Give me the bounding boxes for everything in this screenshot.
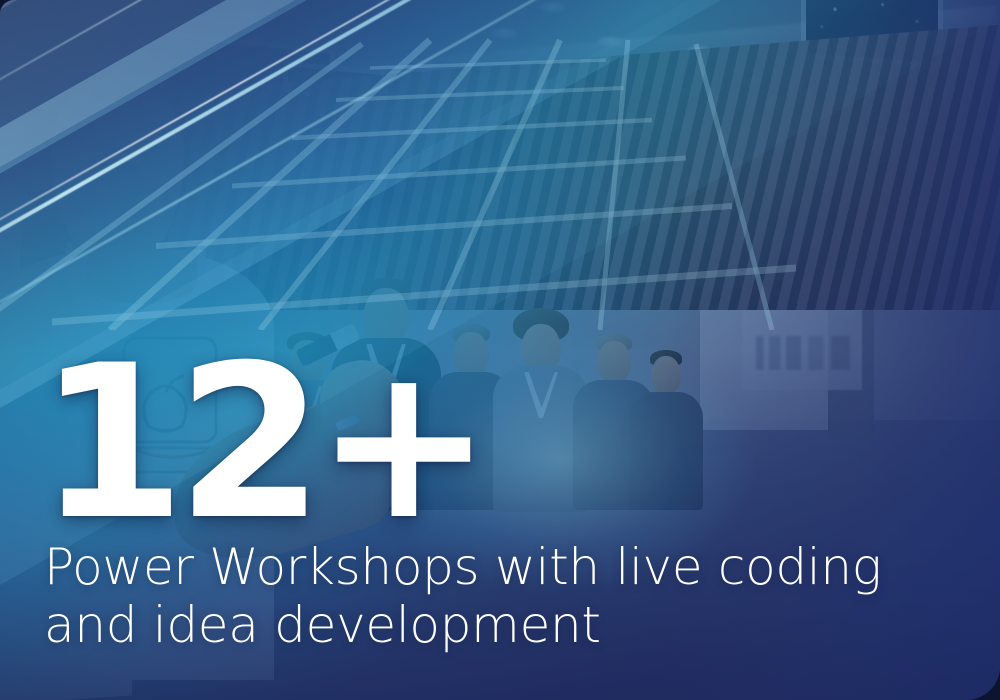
stat-number: 12+: [38, 358, 882, 528]
stat-caption: Power Workshops with live coding and ide…: [44, 538, 882, 654]
stat-caption-line-1: Power Workshops with live coding: [44, 538, 882, 596]
stat-caption-line-2: and idea development: [44, 596, 882, 654]
stat-hero-card: 12+ Power Workshops with live coding and…: [0, 0, 1000, 700]
stat-content: 12+ Power Workshops with live coding and…: [44, 358, 882, 654]
light-ray: [0, 0, 1000, 250]
